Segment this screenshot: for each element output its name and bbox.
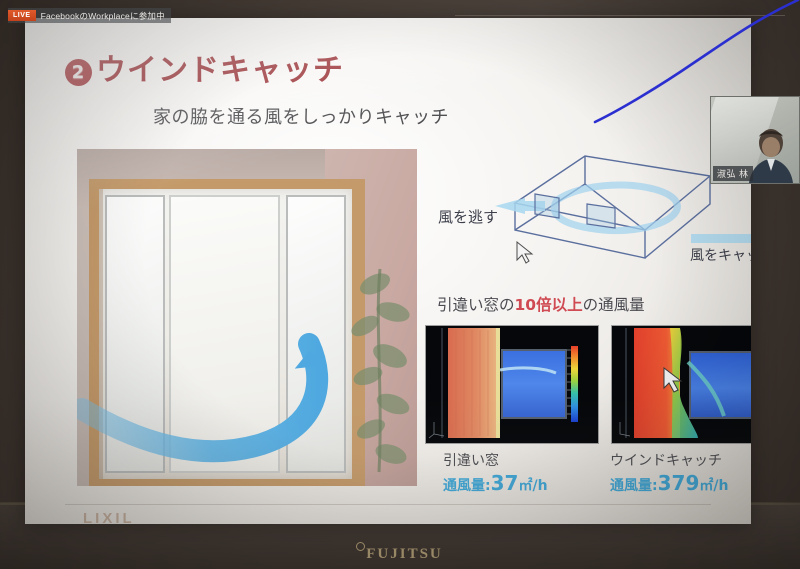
participant-silhouette	[745, 127, 797, 183]
caption-value: 通風量:379㎡/h	[610, 471, 728, 495]
caption-value: 通風量:37㎡/h	[443, 471, 548, 495]
fujitsu-ring-icon	[356, 542, 365, 551]
caption-sliding-window: 引違い窓 通風量:37㎡/h	[443, 450, 548, 495]
cfd-heading-highlight: 10倍以上	[515, 296, 583, 314]
cfd-image-sliding-window	[425, 325, 599, 444]
mouse-cursor-diagram	[517, 242, 532, 263]
slide-subtitle: 家の脇を通る風をしっかりキャッチ	[153, 103, 449, 129]
monitor-photograph: FUJITSU 2ウインドキャッチ 家の脇を通る風をしっかりキャッチ	[0, 0, 800, 569]
live-badge: LIVE	[8, 10, 36, 21]
caption-name: 引違い窓	[443, 450, 548, 470]
cfd-heading: 引違い窓の10倍以上の通風量	[437, 293, 645, 315]
fujitsu-brand-logo: FUJITSU	[0, 546, 800, 563]
caption-wind-catch: ウインドキャッチ 通風量:379㎡/h	[610, 450, 728, 495]
slide-number-badge: 2	[65, 59, 92, 86]
caption-value-unit: ㎡/h	[518, 478, 547, 494]
airflow-arrow-photo	[77, 289, 417, 486]
page-title: 2ウインドキャッチ	[65, 45, 344, 89]
cfd-right-render	[612, 326, 751, 443]
live-banner-text: FacebookのWorkplaceに参加中	[41, 10, 165, 22]
slide-footer-divider	[65, 504, 711, 505]
cfd-image-wind-catch	[611, 325, 751, 444]
cfd-heading-suffix: の通風量	[583, 296, 645, 314]
caption-value-number: 379	[658, 471, 700, 495]
participant-name-label: 淑弘 林	[713, 166, 753, 181]
slide-title-text: ウインドキャッチ	[96, 53, 344, 88]
caption-value-number: 37	[491, 471, 519, 495]
live-status-banner: LIVE FacebookのWorkplaceに参加中	[8, 8, 171, 23]
diagram-label-escape: 風を逃す	[438, 206, 498, 227]
caption-value-label: 通風量:	[443, 478, 491, 494]
caption-name: ウインドキャッチ	[610, 450, 728, 470]
slide-content: 2ウインドキャッチ 家の脇を通る風をしっかりキャッチ	[25, 18, 751, 524]
background-wall-line	[455, 15, 785, 16]
video-participant-tile[interactable]: 淑弘 林	[710, 96, 800, 184]
cfd-heading-prefix: 引違い窓の	[437, 296, 515, 314]
lixil-brand-logo: LIXIL	[83, 510, 135, 524]
window-photo	[77, 149, 417, 486]
fujitsu-logo-text: FUJITSU	[366, 546, 443, 562]
cfd-left-render	[426, 326, 598, 443]
diagram-label-catch: 風をキャッチ	[690, 245, 751, 265]
projected-slide-screen: 2ウインドキャッチ 家の脇を通る風をしっかりキャッチ	[25, 18, 751, 524]
caption-value-label: 通風量:	[610, 478, 658, 494]
caption-value-unit: ㎡/h	[699, 478, 728, 494]
